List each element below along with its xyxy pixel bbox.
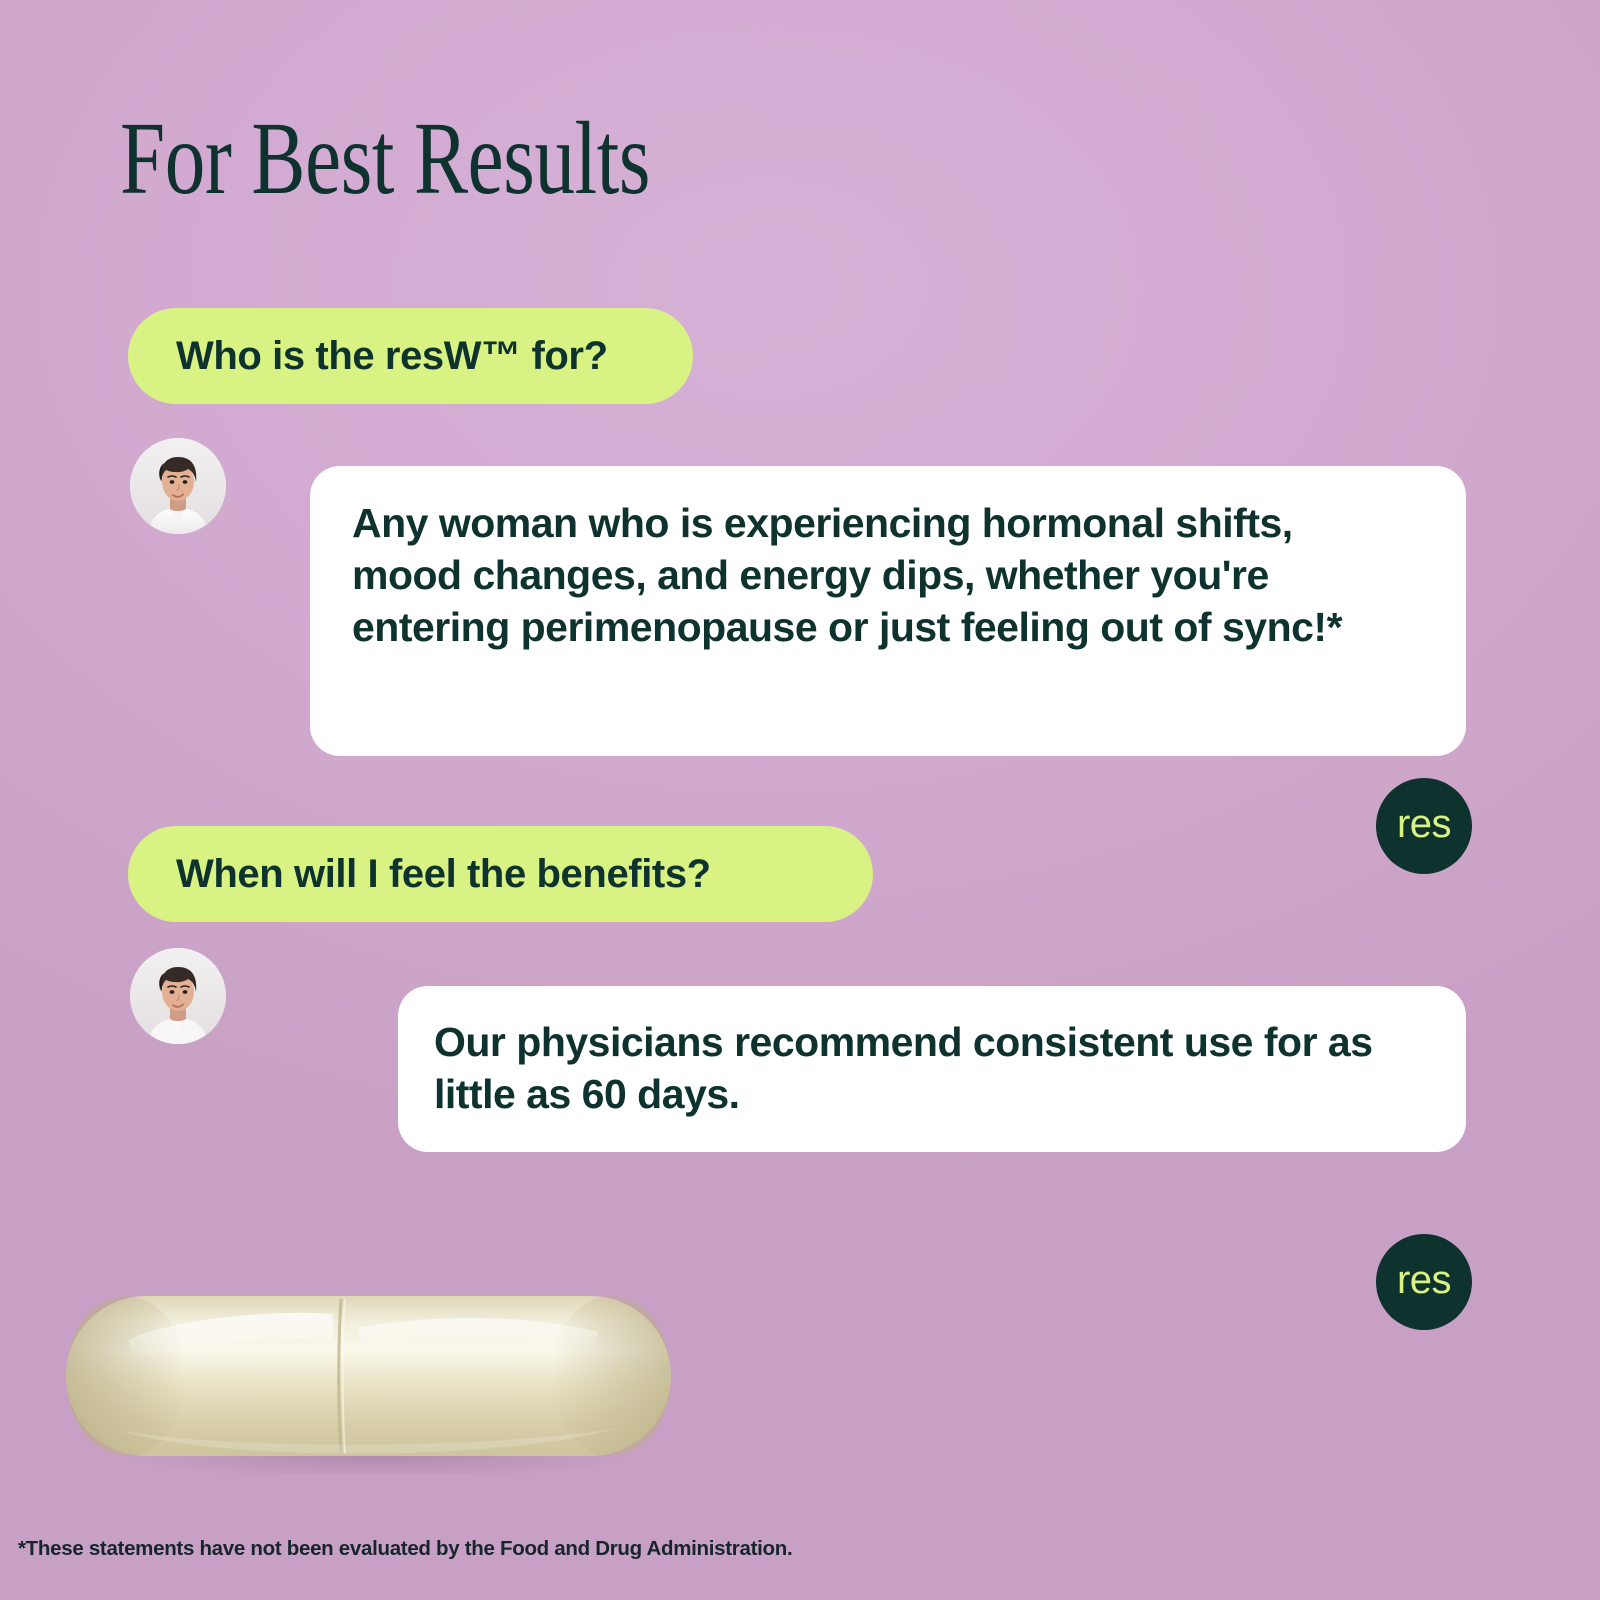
faq-answer-1-text: Any woman who is experiencing hormonal s… [352, 500, 1342, 650]
faq-question-2: When will I feel the benefits? [128, 826, 873, 922]
faq-answer-2: Our physicians recommend consistent use … [398, 986, 1466, 1152]
faq-answer-1: Any woman who is experiencing hormonal s… [310, 466, 1466, 756]
brand-badge-1-label: res [1397, 802, 1451, 847]
brand-badge-2-label: res [1397, 1258, 1451, 1303]
brand-badge-1: res [1376, 778, 1472, 874]
page-title: For Best Results [120, 104, 650, 213]
product-capsule-image [58, 1244, 678, 1474]
disclaimer-footnote: *These statements have not been evaluate… [18, 1537, 792, 1561]
faq-question-2-label: When will I feel the benefits? [176, 852, 711, 897]
avatar-portrait-icon [130, 948, 226, 1044]
capsule-icon [58, 1244, 678, 1474]
brand-badge-2: res [1376, 1234, 1472, 1330]
physician-avatar-2 [130, 948, 226, 1044]
faq-question-1: Who is the resW™ for? [128, 308, 693, 404]
physician-avatar-1 [130, 438, 226, 534]
faq-answer-2-text: Our physicians recommend consistent use … [434, 1019, 1373, 1117]
avatar-portrait-icon [130, 438, 226, 534]
faq-question-1-label: Who is the resW™ for? [176, 334, 608, 379]
promo-card: For Best Results Who is the resW™ for? [0, 0, 1600, 1600]
